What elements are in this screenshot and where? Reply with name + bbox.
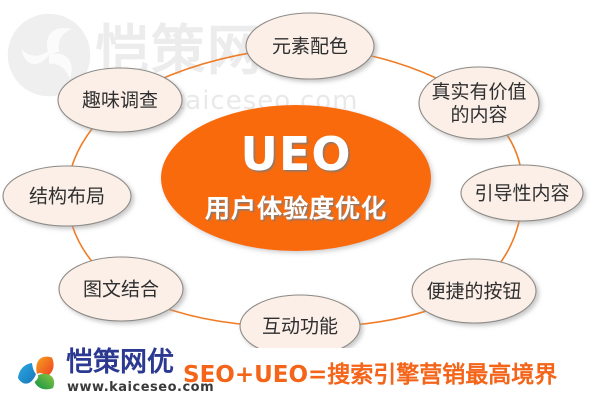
node-guiding-content[interactable]: 引导性内容 [461,165,583,221]
node-label-guiding-content: 引导性内容 [474,183,569,205]
node-handy-buttons[interactable]: 便捷的按钮 [412,259,536,323]
infographic-canvas: 恺策网优 www.kaiceseo.com 元素配色真实有价值的内容引导性内容便… [0,0,600,408]
footer-tagline: SEO+UEO=搜索引擎营销最高境界 [183,355,557,389]
node-valuable-content[interactable]: 真实有价值的内容 [419,67,539,139]
node-label-handy-buttons: 便捷的按钮 [426,281,521,303]
center-subtitle: 用户体验度优化 [205,194,387,223]
node-text-image-mix[interactable]: 图文结合 [59,257,183,321]
node-element-color[interactable]: 元素配色 [246,13,374,79]
node-label-text-image-mix: 图文结合 [83,279,159,301]
footer-pinwheel-circle-logo-icon [12,348,62,398]
ueo-mindmap-diagram: 元素配色真实有价值的内容引导性内容便捷的按钮互动功能图文结合结构布局趣味调查 U… [0,0,600,348]
node-label-valuable-content-line2: 的内容 [450,104,507,126]
center-node: UEO 用户体验度优化 [161,105,431,251]
node-fun-survey[interactable]: 趣味调查 [58,68,182,132]
node-label-fun-survey: 趣味调查 [82,90,158,112]
footer-brand-text: 恺策网优 [66,349,174,377]
center-title: UEO [241,127,352,181]
node-label-element-color: 元素配色 [272,36,348,58]
node-label-valuable-content-line1: 真实有价值 [431,81,526,103]
footer-bar: 恺策网优 www.kaiceseo.com SEO+UEO=搜索引擎营销最高境界 [0,340,600,408]
node-label-interaction: 互动功能 [262,316,338,338]
node-label-structure-layout: 结构布局 [29,186,105,208]
node-structure-layout[interactable]: 结构布局 [3,166,131,226]
